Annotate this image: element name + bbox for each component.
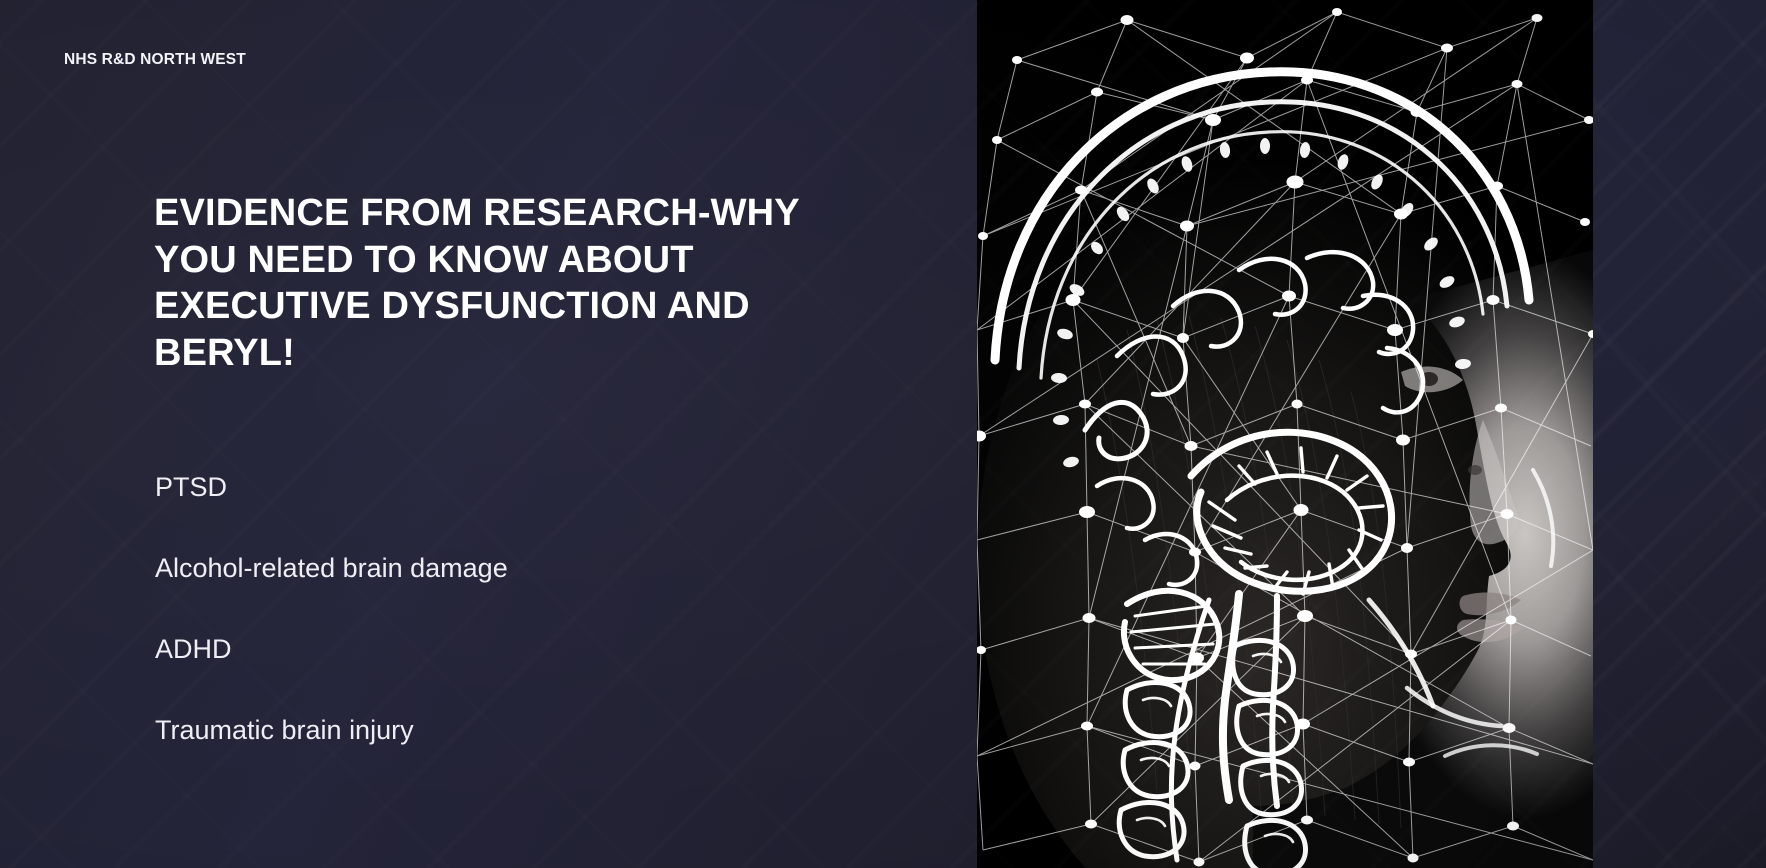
- brand-label: NHS R&D NORTH WEST: [64, 51, 246, 69]
- list-item: Alcohol-related brain damage: [155, 553, 915, 585]
- diagonal-texture: [1593, 0, 1766, 868]
- brain-network-image: [977, 0, 1593, 868]
- presentation-slide: NHS R&D NORTH WEST Evidence from researc…: [0, 0, 1766, 868]
- right-accent-strip: [1593, 0, 1766, 868]
- condition-list: PTSD Alcohol-related brain damage ADHD T…: [155, 472, 915, 746]
- list-item: PTSD: [155, 472, 915, 504]
- list-item: ADHD: [155, 634, 915, 666]
- page-title: Evidence from research-why you need to k…: [154, 190, 884, 377]
- list-item: Traumatic brain injury: [155, 715, 915, 747]
